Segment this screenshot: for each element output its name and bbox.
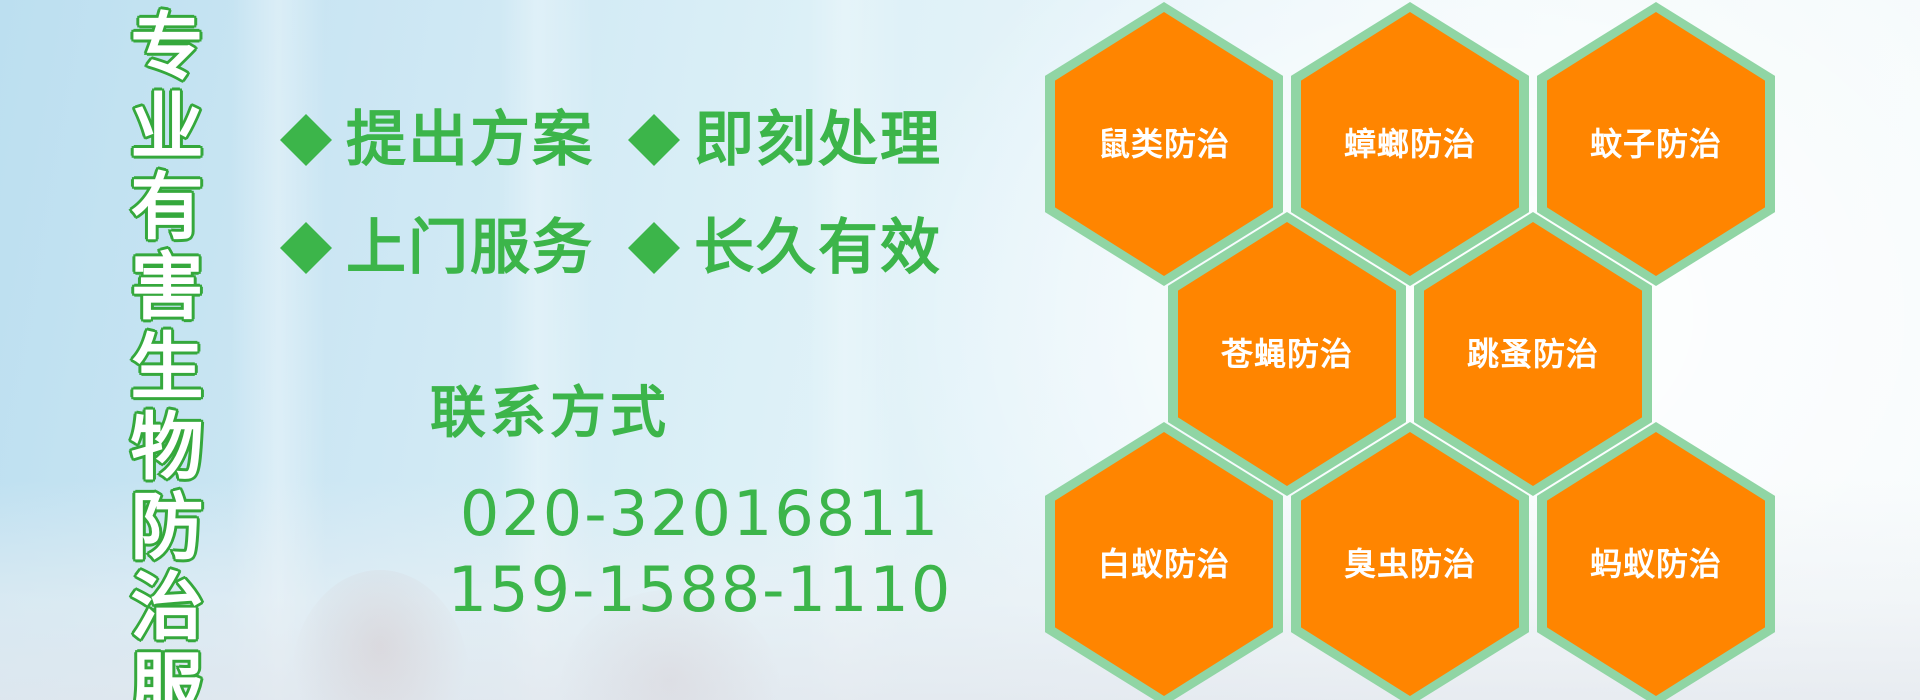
hex-inner: 蟑螂防治 (1301, 12, 1519, 276)
feature-item: 长久有效 (628, 218, 942, 278)
feature-row: 提出方案 即刻处理 (280, 86, 1080, 194)
phone-number-landline[interactable]: 020-32016811 (390, 476, 1010, 552)
feature-item: 即刻处理 (628, 110, 942, 170)
contact-heading: 联系方式 (390, 386, 1010, 442)
hex-inner: 鼠类防治 (1055, 12, 1273, 276)
service-honeycomb: 鼠类防治 蟑螂防治 蚊子防治 苍蝇防治 跳蚤防治 白蚁防治 (1045, 0, 1845, 700)
feature-label: 即刻处理 (694, 110, 942, 170)
contact-block: 联系方式 020-32016811 159-1588-1110 (390, 386, 1010, 627)
feature-row: 上门服务 长久有效 (280, 194, 1080, 302)
hex-label: 苍蝇防治 (1221, 338, 1353, 370)
vertical-title-char: 害 (131, 248, 204, 328)
vertical-title-char: 专 (131, 8, 204, 88)
hex-label: 蟑螂防治 (1344, 128, 1476, 160)
pest-control-banner: 专 业 有 害 生 物 防 治 服 务 提出方案 即刻处理 上门服务 (0, 0, 1920, 700)
hex-inner: 白蚁防治 (1055, 432, 1273, 696)
vertical-title: 专 业 有 害 生 物 防 治 服 务 (112, 8, 222, 698)
feature-label: 长久有效 (694, 218, 942, 278)
diamond-icon (280, 196, 332, 248)
hex-inner: 蚂蚁防治 (1547, 432, 1765, 696)
hex-label: 鼠类防治 (1098, 128, 1230, 160)
vertical-title-char: 业 (131, 88, 204, 168)
feature-item: 上门服务 (280, 218, 594, 278)
feature-label: 上门服务 (346, 218, 594, 278)
feature-label: 提出方案 (346, 110, 594, 170)
vertical-title-char: 治 (131, 568, 204, 648)
phone-number-mobile[interactable]: 159-1588-1110 (390, 552, 1010, 628)
hex-inner: 臭虫防治 (1301, 432, 1519, 696)
vertical-title-char: 有 (131, 168, 204, 248)
diamond-icon (280, 88, 332, 140)
vertical-title-char: 服 (131, 648, 204, 700)
vertical-title-char: 物 (131, 408, 204, 488)
hex-label: 臭虫防治 (1344, 548, 1476, 580)
hex-label: 白蚁防治 (1098, 548, 1230, 580)
hex-label: 蚂蚁防治 (1590, 548, 1722, 580)
diamond-icon (628, 88, 680, 140)
feature-list: 提出方案 即刻处理 上门服务 长久有效 (280, 86, 1080, 302)
hex-inner: 苍蝇防治 (1178, 222, 1396, 486)
hex-inner: 跳蚤防治 (1424, 222, 1642, 486)
vertical-title-char: 生 (131, 328, 204, 408)
hex-label: 跳蚤防治 (1467, 338, 1599, 370)
feature-item: 提出方案 (280, 110, 594, 170)
hex-label: 蚊子防治 (1590, 128, 1722, 160)
hex-inner: 蚊子防治 (1547, 12, 1765, 276)
vertical-title-char: 防 (131, 488, 204, 568)
diamond-icon (628, 196, 680, 248)
